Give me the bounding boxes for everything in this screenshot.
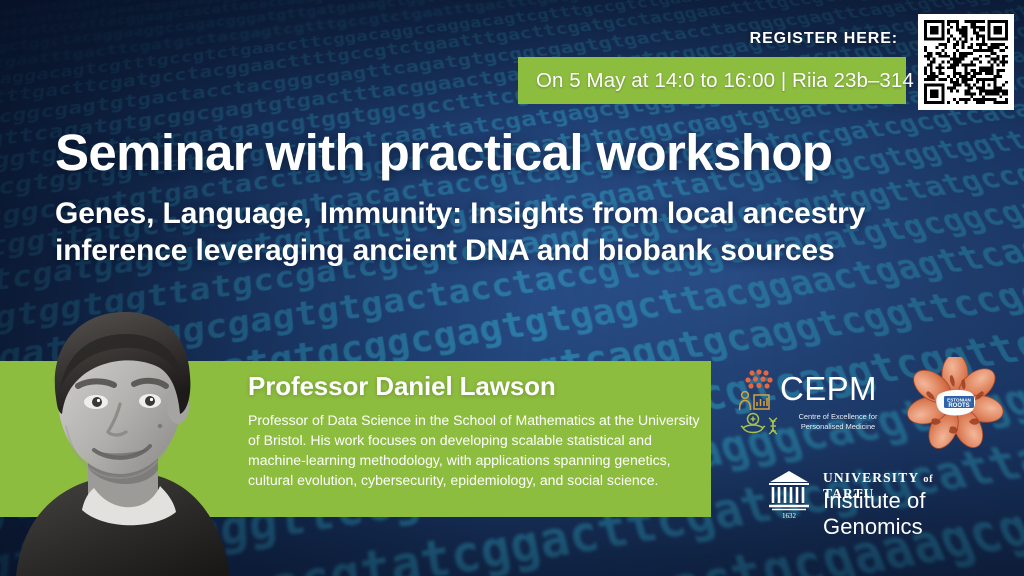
speaker-biography: Professor of Data Science in the School … [248,410,700,491]
hand-care-icon [741,414,765,433]
flower-petal-icon: ESTONIAN ROOTS [904,357,1005,449]
speaker-portrait [8,280,240,576]
cepm-icon-cluster [736,368,782,440]
qr-code-canvas [924,20,1008,104]
roots-label-line1: ESTONIAN [947,397,971,402]
crest-year: 1632 [782,512,797,520]
page-title: Seminar with practical workshop [55,126,985,180]
roots-label-line2: ROOTS [948,403,969,409]
subtitle: Genes, Language, Immunity: Insights from… [55,196,985,269]
cepm-tagline: Centre of Excellence for Personalised Me… [786,412,890,431]
speaker-name: Professor Daniel Lawson [248,372,700,401]
register-here-label: REGISTER HERE: [750,30,898,48]
institute-of-genomics-label: Institute of Genomics [823,488,983,540]
event-date-band: On 5 May at 14:0 to 16:00 | Riia 23b–314 [518,57,906,104]
tartu-of-word: of [923,474,933,485]
cepm-logo: CEPM Centre of Excellence for Personalis… [736,368,888,440]
subtitle-line-1: Genes, Language, Immunity: Insights from… [55,196,985,233]
people-group-icon [745,369,772,388]
qr-code-icon[interactable] [918,14,1014,110]
tartu-university-word: UNIVERSITY [823,470,919,485]
estonian-roots-logo: ESTONIAN ROOTS [898,357,1012,449]
seminar-poster: acgtgcattacggctcggaacgtatcggacttcgatacgt… [0,0,1024,576]
speaker-text-block: Professor Daniel Lawson Professor of Dat… [248,372,700,490]
university-of-tartu-logo: 1632 UNIVERSITY of TARTU Institute of Ge… [765,466,983,520]
cepm-wordmark: CEPM [780,372,877,405]
subtitle-line-2: inference leveraging ancient DNA and bio… [55,233,985,270]
event-date-time-location: On 5 May at 14:0 to 16:00 | Riia 23b–314 [518,69,914,93]
person-dna-icon [740,392,770,410]
headline-block: Seminar with practical workshop Genes, L… [55,126,985,269]
university-crest-icon: 1632 [765,466,813,520]
dna-helix-icon [769,418,777,434]
